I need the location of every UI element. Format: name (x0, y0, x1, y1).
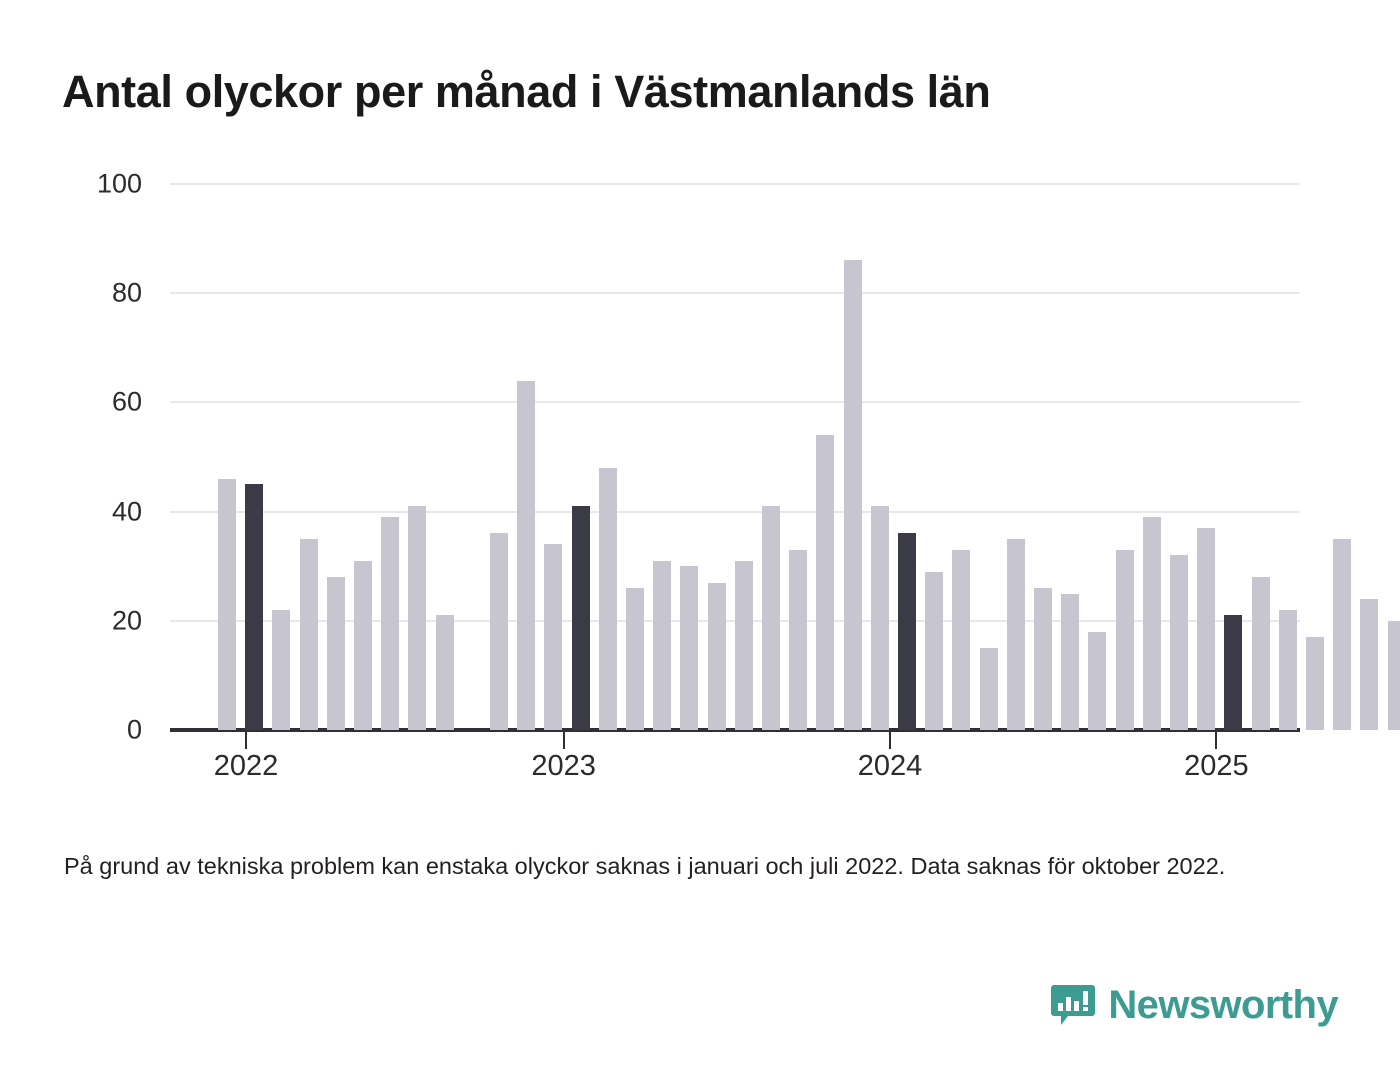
newsworthy-bars-bubble-icon (1050, 982, 1096, 1028)
chart-plot-area: 020406080100 34 20222023202420252026 (0, 0, 1400, 790)
x-axis-tick (563, 732, 565, 749)
branding-logo: Newsworthy (1050, 982, 1338, 1028)
brand-name: Newsworthy (1108, 983, 1338, 1028)
x-axis-tick-label: 2025 (1184, 750, 1249, 783)
x-axis-tick (1215, 732, 1217, 749)
x-axis-tick-label: 2023 (531, 750, 596, 783)
x-axis-tick (245, 732, 247, 749)
x-axis-tick (889, 732, 891, 749)
x-axis-tick-label: 2024 (858, 750, 923, 783)
x-axis-tick-label: 2022 (214, 750, 279, 783)
chart-footnote: På grund av tekniska problem kan enstaka… (64, 851, 1284, 882)
x-axis: 20222023202420252026 (0, 0, 1400, 790)
